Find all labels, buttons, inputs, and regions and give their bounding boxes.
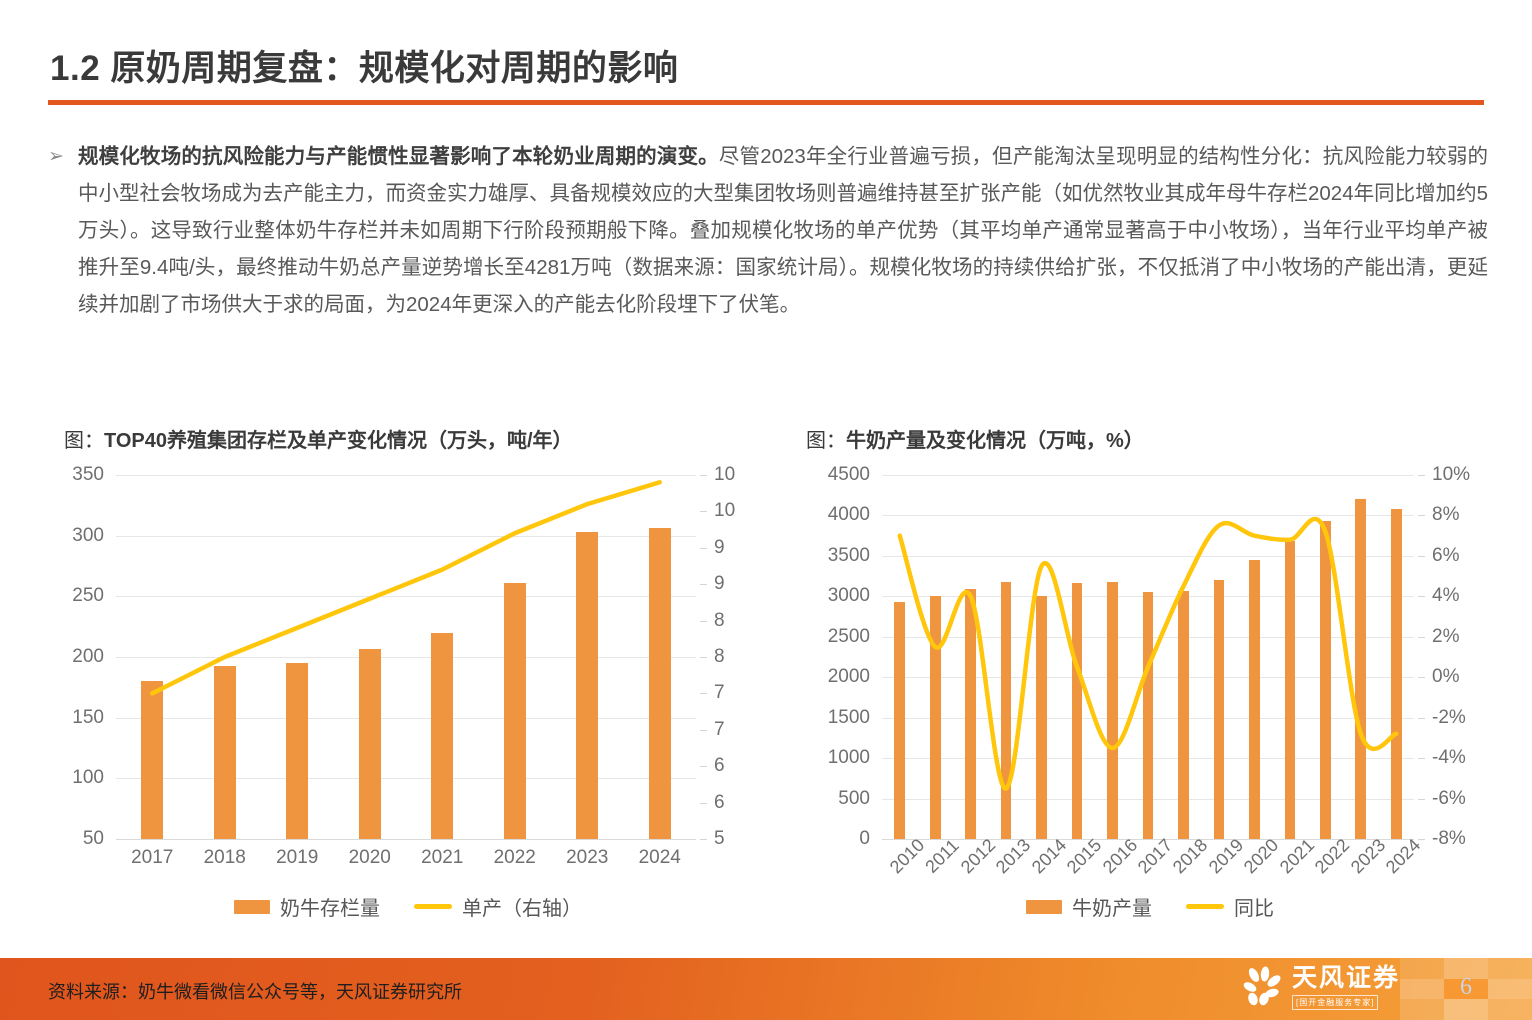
- chart-left-title-text: TOP40养殖集团存栏及单产变化情况（万头，吨/年）: [104, 430, 573, 452]
- company-logo: 天风证券 [国开金融服务专家]: [1239, 966, 1400, 1010]
- page-number: 6: [1460, 974, 1472, 1001]
- secondary-y-axis-tick-label: 10%: [1432, 464, 1470, 486]
- tick-mark: [1418, 475, 1425, 476]
- tick-mark: [700, 511, 707, 512]
- chart-left-x-axis: 20172018201920202021202220232024: [116, 841, 696, 897]
- secondary-y-axis-tick-label: 2%: [1432, 626, 1459, 648]
- paragraph-body-text: 尽管2023年全行业普遍亏损，但产能淘汰呈现明显的结构性分化：抗风险能力较弱的中…: [78, 145, 1488, 316]
- chart-left-title: 图：TOP40养殖集团存栏及单产变化情况（万头，吨/年）: [64, 424, 758, 453]
- legend-item[interactable]: 牛奶产量: [1026, 892, 1152, 921]
- secondary-y-axis-tick-label: 4%: [1432, 585, 1459, 607]
- secondary-y-axis-tick-label: 10: [714, 464, 735, 486]
- chart-right-title-prefix: 图：: [806, 430, 846, 452]
- y-axis-tick-label: 1500: [802, 707, 870, 729]
- legend-label: 单产（右轴）: [462, 892, 582, 921]
- chart-left-plot: [116, 475, 696, 839]
- y-axis-tick-label: 4000: [802, 504, 870, 526]
- tick-mark: [700, 730, 707, 731]
- x-axis-tick-label: 2022: [1311, 835, 1354, 878]
- logo-tagline: [国开金融服务专家]: [1292, 995, 1378, 1010]
- secondary-y-axis-tick-label: 7: [714, 719, 725, 741]
- y-axis-tick-label: 1000: [802, 747, 870, 769]
- secondary-y-axis-tick-label: 10: [714, 500, 735, 522]
- x-axis-tick-label: 2017: [1134, 835, 1177, 878]
- x-axis-tick-label: 2023: [566, 847, 608, 869]
- y-axis-tick-label: 350: [60, 464, 104, 486]
- chart-right-title-text: 牛奶产量及变化情况（万吨，%）: [846, 430, 1144, 452]
- slide: 1.2 原奶周期复盘：规模化对周期的影响 ➢ 规模化牧场的抗风险能力与产能惯性显…: [0, 0, 1532, 1020]
- tick-mark: [1418, 799, 1425, 800]
- secondary-y-axis-tick-label: -6%: [1432, 788, 1466, 810]
- x-axis-tick-label: 2010: [886, 835, 929, 878]
- secondary-y-axis-tick-label: 6: [714, 792, 725, 814]
- secondary-y-axis-tick-label: 8: [714, 646, 725, 668]
- x-axis-tick-label: 2015: [1063, 835, 1106, 878]
- x-axis-tick-label: 2024: [1382, 835, 1425, 878]
- y-axis-tick-label: 150: [60, 707, 104, 729]
- legend-item[interactable]: 奶牛存栏量: [234, 892, 380, 921]
- chart-left-canvas: 20172018201920202021202220232024 5010015…: [58, 467, 758, 897]
- tick-mark: [1418, 839, 1425, 840]
- x-axis-tick-label: 2019: [1205, 835, 1248, 878]
- gridline: [116, 839, 696, 840]
- x-axis-tick-label: 2018: [204, 847, 246, 869]
- legend-label: 同比: [1234, 892, 1274, 921]
- x-axis-tick-label: 2021: [421, 847, 463, 869]
- y-axis-tick-label: 2000: [802, 666, 870, 688]
- secondary-y-axis-tick-label: 7: [714, 682, 725, 704]
- tick-mark: [700, 475, 707, 476]
- y-axis-tick-label: 3000: [802, 585, 870, 607]
- y-axis-tick-label: 0: [802, 828, 870, 850]
- secondary-y-axis-tick-label: 5: [714, 828, 725, 850]
- chart-right-legend: 牛奶产量同比: [800, 892, 1500, 921]
- y-axis-tick-label: 250: [60, 585, 104, 607]
- line-series: [116, 475, 696, 839]
- x-axis-tick-label: 2023: [1347, 835, 1390, 878]
- line-series: [882, 475, 1414, 839]
- tick-mark: [700, 584, 707, 585]
- chart-panel-left: 图：TOP40养殖集团存栏及单产变化情况（万头，吨/年） 20172018201…: [58, 424, 758, 897]
- y-axis-tick-label: 3500: [802, 545, 870, 567]
- chart-right-canvas: 2010201120122013201420152016201720182019…: [800, 467, 1500, 897]
- paragraph-lead-bold: 规模化牧场的抗风险能力与产能惯性显著影响了本轮奶业周期的演变。: [78, 145, 719, 168]
- tick-mark: [1418, 556, 1425, 557]
- legend-line-swatch-icon: [414, 904, 452, 909]
- legend-label: 牛奶产量: [1072, 892, 1152, 921]
- legend-bar-swatch-icon: [1026, 900, 1062, 914]
- legend-label: 奶牛存栏量: [280, 892, 380, 921]
- title-underline-rule: [48, 100, 1484, 105]
- line-path: [152, 482, 660, 693]
- y-axis-tick-label: 100: [60, 767, 104, 789]
- x-axis-tick-label: 2024: [639, 847, 681, 869]
- footer-band: 资料来源：奶牛微看微信公众号等，天风证券研究所 天风证券: [0, 958, 1532, 1020]
- chart-panel-right: 图：牛奶产量及变化情况（万吨，%） 2010201120122013201420…: [800, 424, 1500, 897]
- tick-mark: [1418, 596, 1425, 597]
- legend-bar-swatch-icon: [234, 900, 270, 914]
- x-axis-tick-label: 2018: [1169, 835, 1212, 878]
- title-block: 1.2 原奶周期复盘：规模化对周期的影响: [48, 48, 1484, 105]
- tick-mark: [700, 621, 707, 622]
- x-axis-tick-label: 2019: [276, 847, 318, 869]
- body-paragraph-block: ➢ 规模化牧场的抗风险能力与产能惯性显著影响了本轮奶业周期的演变。尽管2023年…: [48, 138, 1488, 323]
- tick-mark: [700, 803, 707, 804]
- secondary-y-axis-tick-label: 0%: [1432, 666, 1459, 688]
- tick-mark: [1418, 758, 1425, 759]
- x-axis-tick-label: 2021: [1276, 835, 1319, 878]
- flower-logo-icon: [1239, 966, 1283, 1010]
- secondary-y-axis-tick-label: 9: [714, 537, 725, 559]
- y-axis-tick-label: 4500: [802, 464, 870, 486]
- source-note: 资料来源：奶牛微看微信公众号等，天风证券研究所: [48, 978, 462, 1004]
- x-axis-tick-label: 2020: [1240, 835, 1283, 878]
- secondary-y-axis-tick-label: 6%: [1432, 545, 1459, 567]
- tick-mark: [1418, 515, 1425, 516]
- x-axis-tick-label: 2011: [921, 835, 963, 877]
- x-axis-tick-label: 2016: [1098, 835, 1141, 878]
- secondary-y-axis-tick-label: 6: [714, 755, 725, 777]
- y-axis-tick-label: 300: [60, 525, 104, 547]
- chart-right-plot: [882, 475, 1414, 839]
- tick-mark: [700, 693, 707, 694]
- x-axis-tick-label: 2014: [1027, 835, 1070, 878]
- chart-left-legend: 奶牛存栏量单产（右轴）: [58, 892, 758, 921]
- secondary-y-axis-tick-label: 8%: [1432, 504, 1459, 526]
- x-axis-tick-label: 2022: [494, 847, 536, 869]
- tick-mark: [1418, 677, 1425, 678]
- chart-right-x-axis: 2010201120122013201420152016201720182019…: [882, 841, 1414, 897]
- x-axis-tick-label: 2013: [992, 835, 1035, 878]
- tick-mark: [700, 766, 707, 767]
- x-axis-tick-label: 2012: [956, 835, 999, 878]
- y-axis-tick-label: 50: [60, 828, 104, 850]
- x-axis-tick-label: 2020: [349, 847, 391, 869]
- logo-text-block: 天风证券 [国开金融服务专家]: [1292, 966, 1400, 1010]
- y-axis-tick-label: 200: [60, 646, 104, 668]
- tick-mark: [1418, 718, 1425, 719]
- chart-left-title-prefix: 图：: [64, 430, 104, 452]
- page-title: 1.2 原奶周期复盘：规模化对周期的影响: [50, 48, 1484, 90]
- legend-item[interactable]: 同比: [1186, 892, 1274, 921]
- y-axis-tick-label: 2500: [802, 626, 870, 648]
- secondary-y-axis-tick-label: 8: [714, 610, 725, 632]
- y-axis-tick-label: 500: [802, 788, 870, 810]
- body-paragraph: 规模化牧场的抗风险能力与产能惯性显著影响了本轮奶业周期的演变。尽管2023年全行…: [78, 138, 1488, 323]
- secondary-y-axis-tick-label: -4%: [1432, 747, 1466, 769]
- chart-right-title: 图：牛奶产量及变化情况（万吨，%）: [806, 424, 1500, 453]
- secondary-y-axis-tick-label: -2%: [1432, 707, 1466, 729]
- legend-item[interactable]: 单产（右轴）: [414, 892, 582, 921]
- tick-mark: [1418, 637, 1425, 638]
- logo-company-name: 天风证券: [1292, 966, 1400, 991]
- secondary-y-axis-tick-label: -8%: [1432, 828, 1466, 850]
- bullet-arrow-icon: ➢: [48, 138, 78, 323]
- tick-mark: [700, 839, 707, 840]
- legend-line-swatch-icon: [1186, 904, 1224, 909]
- secondary-y-axis-tick-label: 9: [714, 573, 725, 595]
- x-axis-tick-label: 2017: [131, 847, 173, 869]
- tick-mark: [700, 548, 707, 549]
- line-path: [900, 519, 1397, 789]
- tick-mark: [700, 657, 707, 658]
